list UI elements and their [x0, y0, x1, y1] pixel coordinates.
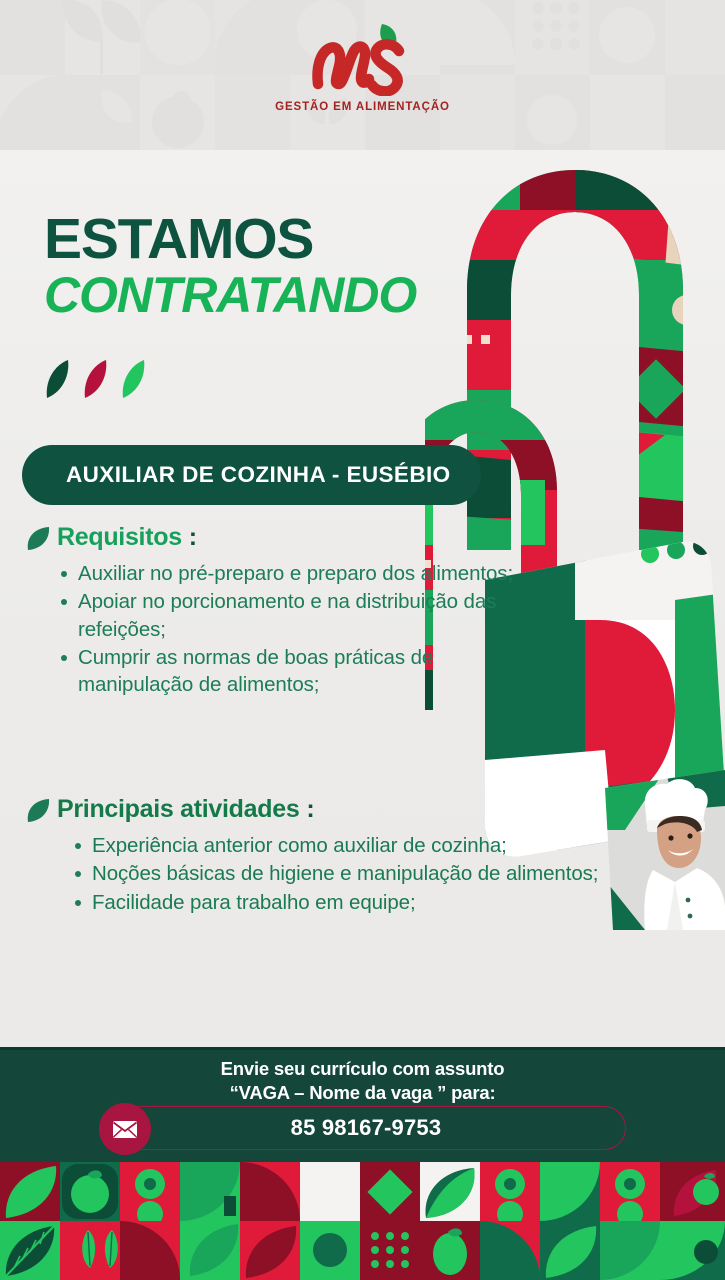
leaf-icon: [26, 797, 50, 823]
poster-header: GESTÃO EM ALIMENTAÇÃO: [0, 0, 725, 150]
list-item: Noções básicas de higiene e manipulação …: [66, 860, 598, 887]
ms-logo-icon: [298, 18, 428, 96]
list-item: Apoiar no porcionamento e na distribuiçã…: [52, 588, 522, 643]
headline-block: ESTAMOS CONTRATANDO: [44, 212, 416, 321]
section-atividades-title: Principais atividades: [57, 795, 299, 824]
mosaic-pattern-band: [0, 1162, 725, 1280]
footer-instruction: Envie seu currículo com assunto “VAGA – …: [0, 1057, 725, 1104]
leaf-bright-green-icon: [120, 360, 147, 398]
leaf-crimson-icon: [82, 360, 109, 398]
footer-instruction-line-2: “VAGA – Nome da vaga ” para:: [0, 1081, 725, 1105]
list-item: Facilidade para trabalho em equipe;: [66, 889, 598, 916]
job-title-text: AUXILIAR DE COZINHA - EUSÉBIO: [66, 462, 451, 488]
section-atividades-heading: Principais atividades :: [26, 795, 598, 824]
list-item: Cumprir as normas de boas práticas de ma…: [52, 644, 522, 699]
job-posting-poster: GESTÃO EM ALIMENTAÇÃO: [0, 0, 725, 1280]
section-requisitos-colon: :: [189, 523, 197, 552]
leaf-accent-row: [44, 360, 147, 398]
headline-line-2: CONTRATANDO: [44, 270, 416, 321]
list-item: Auxiliar no pré-preparo e preparo dos al…: [52, 560, 522, 587]
contact-phone-pill[interactable]: 85 98167-9753: [106, 1106, 626, 1150]
footer-divider: [0, 1047, 725, 1050]
envelope-icon: [99, 1103, 151, 1155]
section-principais-atividades: Principais atividades : Experiência ante…: [26, 795, 598, 917]
brand-logo: GESTÃO EM ALIMENTAÇÃO: [0, 18, 725, 113]
section-requisitos-title: Requisitos: [57, 523, 182, 552]
section-requisitos: Requisitos : Auxiliar no pré-preparo e p…: [26, 523, 522, 699]
leaf-icon: [26, 525, 50, 551]
section-atividades-colon: :: [306, 795, 314, 824]
contact-phone-number[interactable]: 85 98167-9753: [107, 1115, 625, 1141]
leaf-dark-green-icon: [44, 360, 71, 398]
list-item: Experiência anterior como auxiliar de co…: [66, 832, 598, 859]
headline-line-1: ESTAMOS: [44, 212, 416, 268]
requisitos-list: Auxiliar no pré-preparo e preparo dos al…: [52, 560, 522, 698]
footer-instruction-line-1: Envie seu currículo com assunto: [0, 1057, 725, 1081]
job-title-pill: AUXILIAR DE COZINHA - EUSÉBIO: [22, 445, 481, 505]
brand-tagline: GESTÃO EM ALIMENTAÇÃO: [275, 101, 450, 113]
chef-photo: [605, 770, 725, 930]
atividades-list: Experiência anterior como auxiliar de co…: [66, 832, 598, 916]
section-requisitos-heading: Requisitos :: [26, 523, 522, 552]
